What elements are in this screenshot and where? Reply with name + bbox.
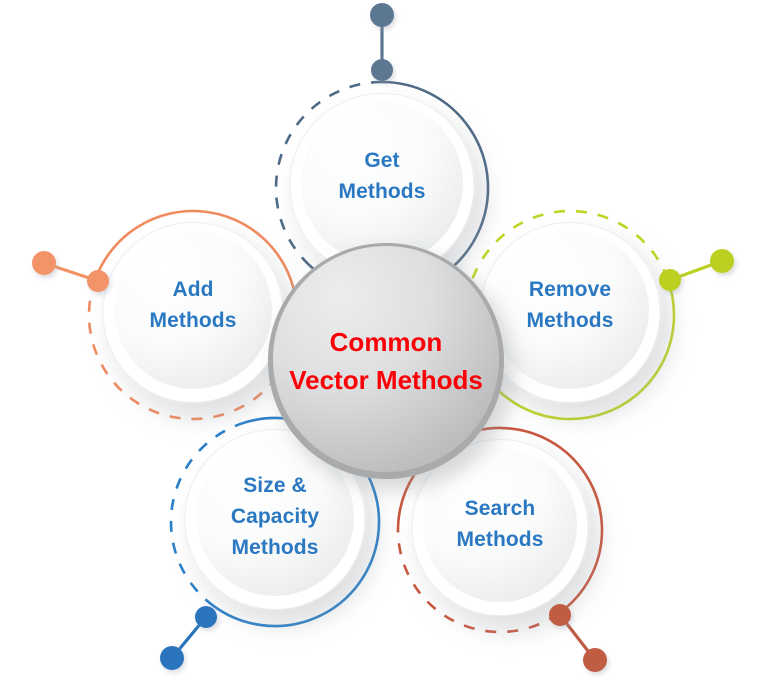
node-disc-face-add-methods <box>114 231 272 389</box>
node-disc-add-methods[interactable] <box>100 222 286 408</box>
connector-inner-dot-add-connector[interactable] <box>87 270 109 292</box>
connector-outer-dot-size-capacity-connector[interactable] <box>160 646 184 670</box>
connector-inner-dot-get-connector[interactable] <box>371 59 393 81</box>
node-disc-face-remove-methods <box>491 231 649 389</box>
infographic-canvas: Get MethodsAdd MethodsRemove MethodsSize… <box>0 0 774 683</box>
connector-inner-dot-search-connector[interactable] <box>549 604 571 626</box>
connector-outer-dot-add-connector[interactable] <box>32 251 56 275</box>
connector-inner-dot-remove-connector[interactable] <box>659 269 681 291</box>
center-hub-layer <box>268 243 504 479</box>
connector-outer-dot-remove-connector[interactable] <box>710 249 734 273</box>
connector-inner-dot-size-capacity-connector[interactable] <box>195 606 217 628</box>
center-hub-face[interactable] <box>273 246 499 472</box>
diagram-svg <box>0 0 774 683</box>
node-disc-face-get-methods <box>301 102 463 264</box>
connector-outer-dot-get-connector[interactable] <box>370 3 394 27</box>
node-disc-remove-methods[interactable] <box>477 222 663 408</box>
node-disc-face-search-methods <box>423 448 577 602</box>
connector-outer-dot-search-connector[interactable] <box>583 648 607 672</box>
